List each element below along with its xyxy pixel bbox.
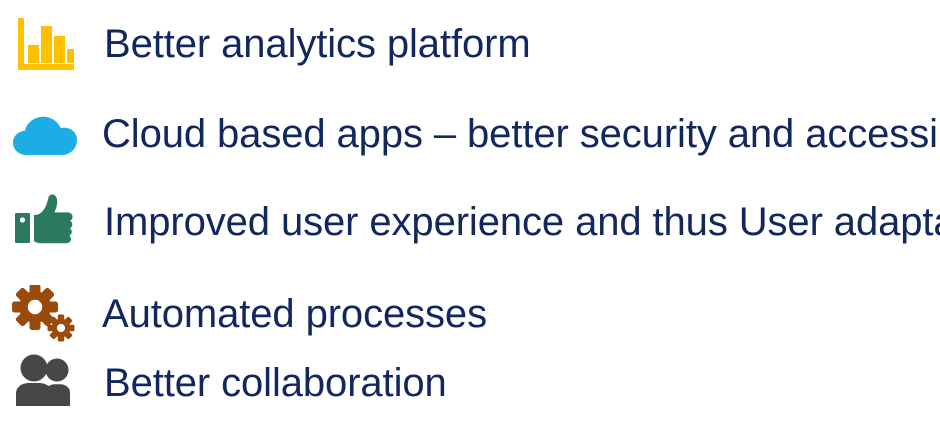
thumbs-up-icon xyxy=(0,193,104,251)
bullet-row-analytics: Better analytics platform xyxy=(0,10,531,78)
bullet-label-analytics: Better analytics platform xyxy=(104,24,531,64)
bullet-label-user-experience: Improved user experience and thus User a… xyxy=(104,202,940,242)
bullet-row-cloud: Cloud based apps – better security and a… xyxy=(0,100,940,168)
bullet-row-automation: Automated processes xyxy=(0,282,487,346)
benefits-slide: Better analytics platform Cloud based ap… xyxy=(0,0,940,439)
bar-chart-icon xyxy=(0,13,104,75)
cloud-icon xyxy=(0,109,102,159)
bullet-row-collaboration: Better collaboration xyxy=(0,350,447,416)
gears-icon xyxy=(0,285,102,343)
bullet-label-automation: Automated processes xyxy=(102,294,487,334)
bullet-label-collaboration: Better collaboration xyxy=(104,363,447,403)
bullet-label-cloud: Cloud based apps – better security and a… xyxy=(102,114,940,154)
bullet-row-user-experience: Improved user experience and thus User a… xyxy=(0,188,940,256)
people-icon xyxy=(0,354,104,412)
